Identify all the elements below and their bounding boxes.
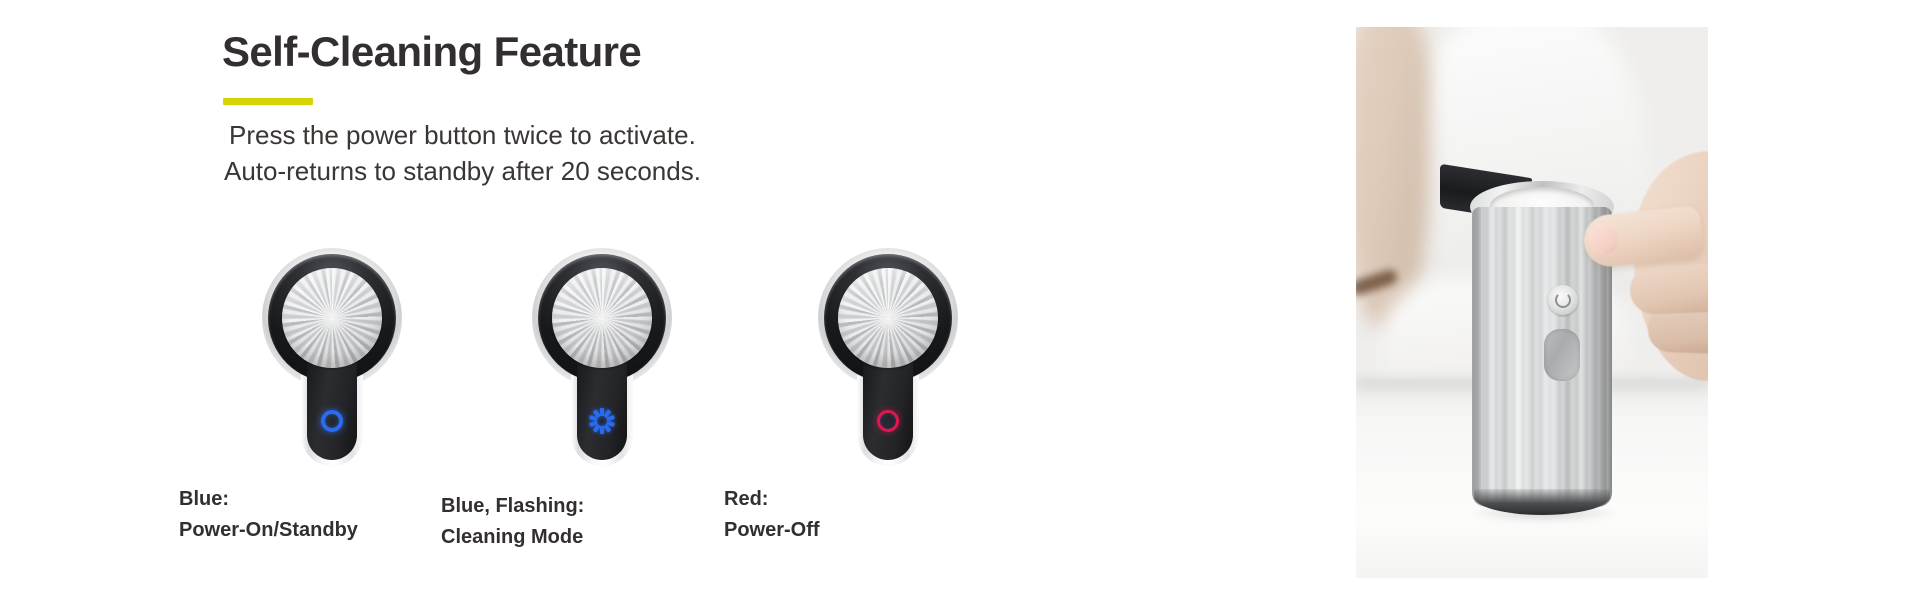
indicator-item-power-off: Red: Power-Off (768, 248, 1008, 588)
photo-scene (1356, 27, 1708, 578)
indicator-caption: Blue: Power-On/Standby (179, 484, 439, 546)
title-underline-accent (223, 98, 313, 105)
indicator-caption-color: Blue: (179, 484, 439, 515)
sensor-window (1544, 329, 1580, 381)
indicator-caption-meaning: Cleaning Mode (441, 522, 701, 553)
hand-pressing-button (1578, 145, 1708, 405)
led-indicator-icon (317, 406, 347, 436)
power-button-icon (1548, 285, 1578, 315)
page-title: Self-Cleaning Feature (222, 30, 641, 74)
indicator-caption-color: Red: (724, 484, 984, 515)
indicator-caption-meaning: Power-On/Standby (179, 515, 439, 546)
hand-finger-middle (1629, 263, 1708, 315)
brushed-metal-disc (282, 268, 382, 368)
description-text: Press the power button twice to activate… (224, 118, 701, 190)
indicator-caption: Blue, Flashing: Cleaning Mode (441, 491, 701, 553)
power-button-illustration (262, 248, 402, 466)
indicator-caption-color: Blue, Flashing: (441, 491, 701, 522)
led-indicator-legend: Blue: Power-On/Standby (0, 248, 1340, 588)
power-button-illustration (532, 248, 672, 466)
brushed-metal-disc (838, 268, 938, 368)
led-ring-solid-blue (321, 410, 343, 432)
content-column: Self-Cleaning Feature Press the power bu… (0, 0, 1340, 600)
brushed-metal-disc (552, 268, 652, 368)
indicator-caption: Red: Power-Off (724, 484, 984, 546)
led-indicator-icon (873, 406, 903, 436)
product-photo (1356, 27, 1708, 578)
self-cleaning-feature-page: Self-Cleaning Feature Press the power bu… (0, 0, 1920, 600)
led-ring-flashing-blue (587, 406, 617, 436)
led-dash-segment (600, 426, 604, 434)
indicator-caption-meaning: Power-Off (724, 515, 984, 546)
indicator-item-power-on-standby: Blue: Power-On/Standby (212, 248, 452, 588)
description-line-1: Press the power button twice to activate… (224, 118, 701, 154)
power-button-illustration (818, 248, 958, 466)
led-indicator-icon (587, 406, 617, 436)
description-line-2: Auto-returns to standby after 20 seconds… (224, 154, 701, 190)
indicator-item-cleaning-mode: Blue, Flashing: Cleaning Mode (482, 248, 722, 588)
led-ring-solid-red (877, 410, 899, 432)
